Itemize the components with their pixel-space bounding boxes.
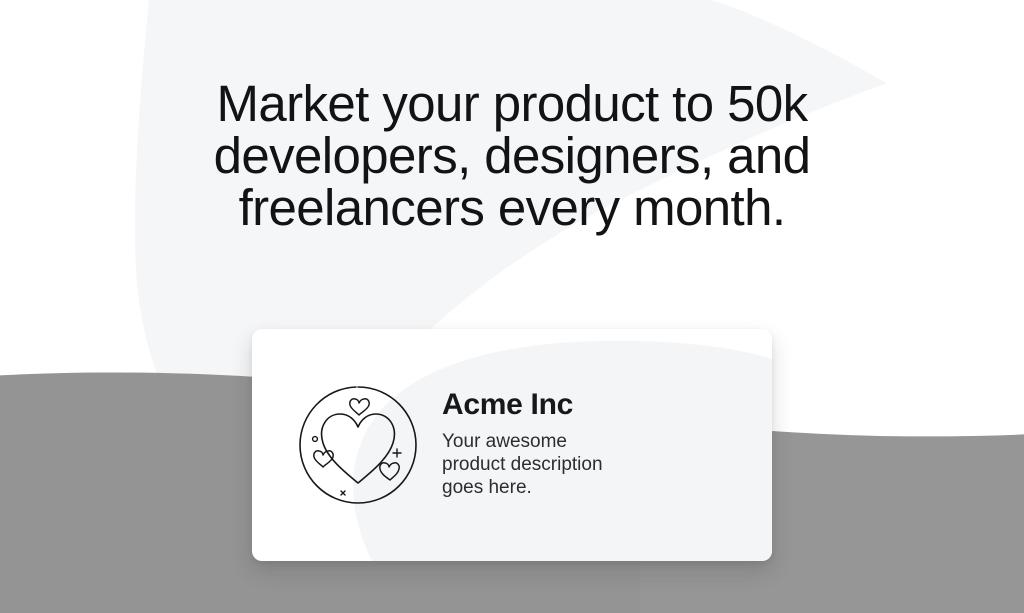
- product-card[interactable]: Acme Inc Your awesome product descriptio…: [252, 329, 772, 561]
- headline-line-2: developers, designers, and: [0, 130, 1024, 182]
- card-description-line-3: goes here.: [442, 476, 666, 499]
- card-description-line-1: Your awesome: [442, 430, 666, 453]
- card-description: Your awesome product description goes he…: [442, 430, 666, 499]
- card-text-block: Acme Inc Your awesome product descriptio…: [420, 388, 772, 503]
- headline-line-3: freelancers every month.: [0, 182, 1024, 234]
- card-content: Acme Inc Your awesome product descriptio…: [252, 329, 772, 561]
- card-description-line-2: product description: [442, 453, 666, 476]
- card-title: Acme Inc: [442, 388, 772, 422]
- headline: Market your product to 50k developers, d…: [0, 78, 1024, 234]
- headline-line-1: Market your product to 50k: [0, 78, 1024, 130]
- heart-circle-logo-icon: [296, 383, 420, 507]
- ad-banner-canvas: Market your product to 50k developers, d…: [0, 0, 1024, 613]
